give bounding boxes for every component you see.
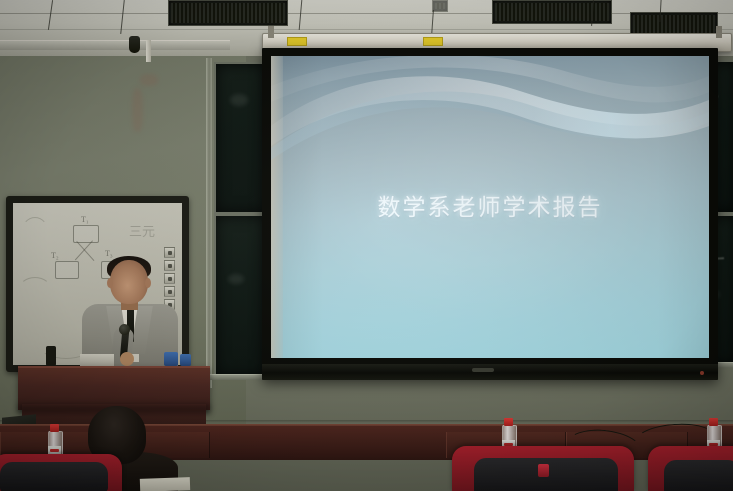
recessed-light-icon — [492, 0, 612, 24]
screen-corner-marker — [700, 371, 704, 375]
papers-on-podium — [80, 354, 114, 366]
projection-screen[interactable]: 数学系老师学术报告 — [262, 48, 718, 380]
blue-cup-secondary — [180, 354, 191, 366]
recessed-light-icon — [432, 0, 448, 12]
seat-stud — [538, 464, 549, 477]
roller-label-right — [423, 37, 443, 46]
board-frame — [206, 58, 212, 388]
auditorium-seat-headrest — [0, 462, 108, 491]
whiteboard-node-label-t2: T₂ — [51, 251, 59, 260]
ceiling-speaker-icon — [129, 36, 140, 53]
auditorium-seat-headrest — [664, 460, 733, 491]
roller-bracket — [716, 26, 722, 38]
presenter-ear-right — [145, 278, 151, 288]
presenter-head — [110, 260, 148, 304]
microphone-head-icon — [119, 324, 130, 335]
wall-stain — [132, 88, 143, 132]
bottle-cap-icon — [709, 418, 718, 426]
blue-cup — [164, 352, 178, 366]
chalk-tray-left — [206, 374, 268, 380]
slide-canvas: 数学系老师学术报告 — [271, 56, 709, 358]
bottle-cap-icon — [50, 424, 59, 432]
roller-label-left — [287, 37, 307, 46]
wall-stain — [140, 74, 158, 86]
presenter-ear-left — [107, 278, 113, 288]
roller-bracket — [268, 26, 274, 38]
podium-mic-stand — [46, 346, 56, 366]
recessed-light-icon — [168, 0, 288, 26]
whiteboard-scribble — [21, 217, 49, 249]
screen-weight-bar — [262, 364, 718, 380]
whiteboard-ink-note: 三元 — [129, 221, 155, 240]
bottle-cap-icon — [504, 418, 513, 426]
whiteboard-node-label-t1: T₁ — [81, 215, 89, 224]
handout-paper — [140, 477, 190, 491]
slide-title: 数学系老师学术报告 — [271, 188, 709, 222]
ceiling-conduit — [0, 40, 230, 50]
chalk-smudge — [230, 94, 248, 106]
slide-wave-graphic — [271, 56, 709, 176]
whiteboard-scribble — [19, 277, 51, 301]
ceiling-pipe — [146, 40, 151, 62]
lecture-hall-photo: 数学系老师学术报告 T₁ T₂ T₃ 三元 — [0, 0, 733, 491]
chalk-smudge — [228, 274, 244, 284]
screen-pull-handle[interactable] — [472, 368, 494, 372]
